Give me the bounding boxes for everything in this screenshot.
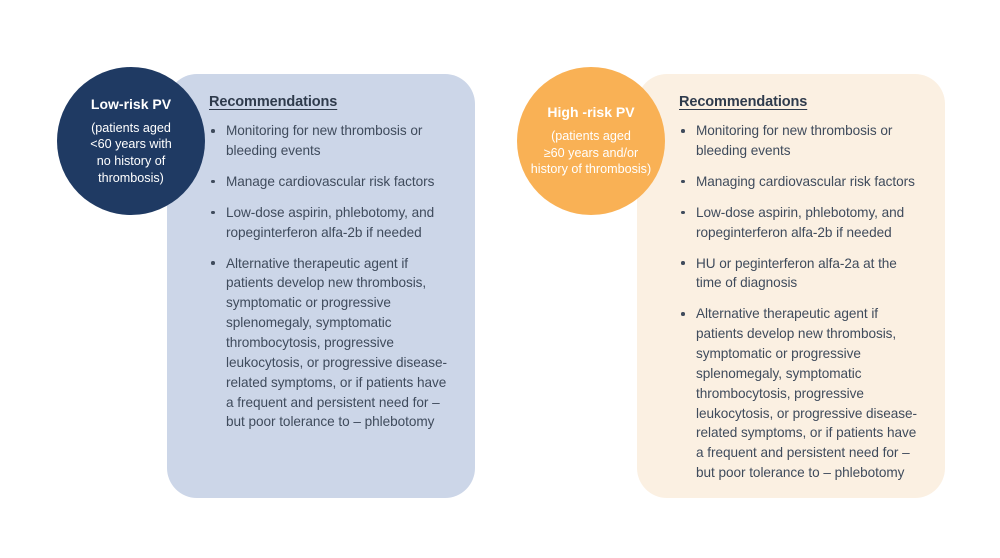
recommendation-item: Low-dose aspirin, phlebotomy, and ropegi… (209, 203, 451, 243)
bullet-dot-icon (211, 211, 215, 215)
recommendations-list-high-risk: Monitoring for new thrombosis or bleedin… (679, 121, 921, 483)
recommendation-item: Alternative therapeutic agent if patient… (679, 304, 921, 483)
recommendations-heading: Recommendations (209, 94, 451, 111)
bullet-dot-icon (211, 129, 215, 133)
recommendation-item: Low-dose aspirin, phlebotomy, and ropegi… (679, 203, 921, 243)
risk-column-low-risk: Recommendations Monitoring for new throm… (0, 0, 500, 558)
recommendation-item: HU or peginterferon alfa-2a at the time … (679, 254, 921, 294)
recommendation-item: Alternative therapeutic agent if patient… (209, 254, 451, 433)
recommendation-text: HU or peginterferon alfa-2a at the time … (696, 256, 897, 291)
recommendation-item: Monitoring for new thrombosis or bleedin… (209, 121, 451, 161)
recommendations-heading: Recommendations (679, 94, 921, 111)
recommendation-item: Monitoring for new thrombosis or bleedin… (679, 121, 921, 161)
risk-category-definition: (patients aged <60 years with no history… (90, 120, 172, 186)
bullet-dot-icon (211, 180, 215, 184)
risk-category-circle-high-risk: High -risk PV (patients aged ≥60 years a… (517, 67, 665, 215)
recommendations-panel-low-risk: Recommendations Monitoring for new throm… (167, 74, 475, 498)
recommendation-text: Alternative therapeutic agent if patient… (226, 256, 447, 430)
bullet-dot-icon (681, 261, 685, 265)
risk-category-circle-low-risk: Low-risk PV (patients aged <60 years wit… (57, 67, 205, 215)
risk-category-definition: (patients aged ≥60 years and/or history … (531, 128, 651, 178)
bullet-dot-icon (681, 312, 685, 316)
recommendation-text: Monitoring for new thrombosis or bleedin… (696, 123, 892, 158)
risk-column-high-risk: Recommendations Monitoring for new throm… (500, 0, 1000, 558)
recommendation-text: Manage cardiovascular risk factors (226, 174, 434, 189)
recommendation-text: Low-dose aspirin, phlebotomy, and ropegi… (696, 205, 904, 240)
recommendation-item: Manage cardiovascular risk factors (209, 172, 451, 192)
recommendation-text: Alternative therapeutic agent if patient… (696, 306, 917, 480)
diagram-canvas: Recommendations Monitoring for new throm… (0, 0, 1000, 558)
recommendation-text: Low-dose aspirin, phlebotomy, and ropegi… (226, 205, 434, 240)
recommendations-list-low-risk: Monitoring for new thrombosis or bleedin… (209, 121, 451, 432)
bullet-dot-icon (681, 129, 685, 133)
recommendations-panel-high-risk: Recommendations Monitoring for new throm… (637, 74, 945, 498)
recommendation-item: Managing cardiovascular risk factors (679, 172, 921, 192)
recommendation-text: Monitoring for new thrombosis or bleedin… (226, 123, 422, 158)
risk-category-title: High -risk PV (547, 104, 634, 121)
bullet-dot-icon (681, 211, 685, 215)
risk-category-title: Low-risk PV (91, 96, 171, 113)
bullet-dot-icon (211, 261, 215, 265)
recommendation-text: Managing cardiovascular risk factors (696, 174, 915, 189)
bullet-dot-icon (681, 180, 685, 184)
